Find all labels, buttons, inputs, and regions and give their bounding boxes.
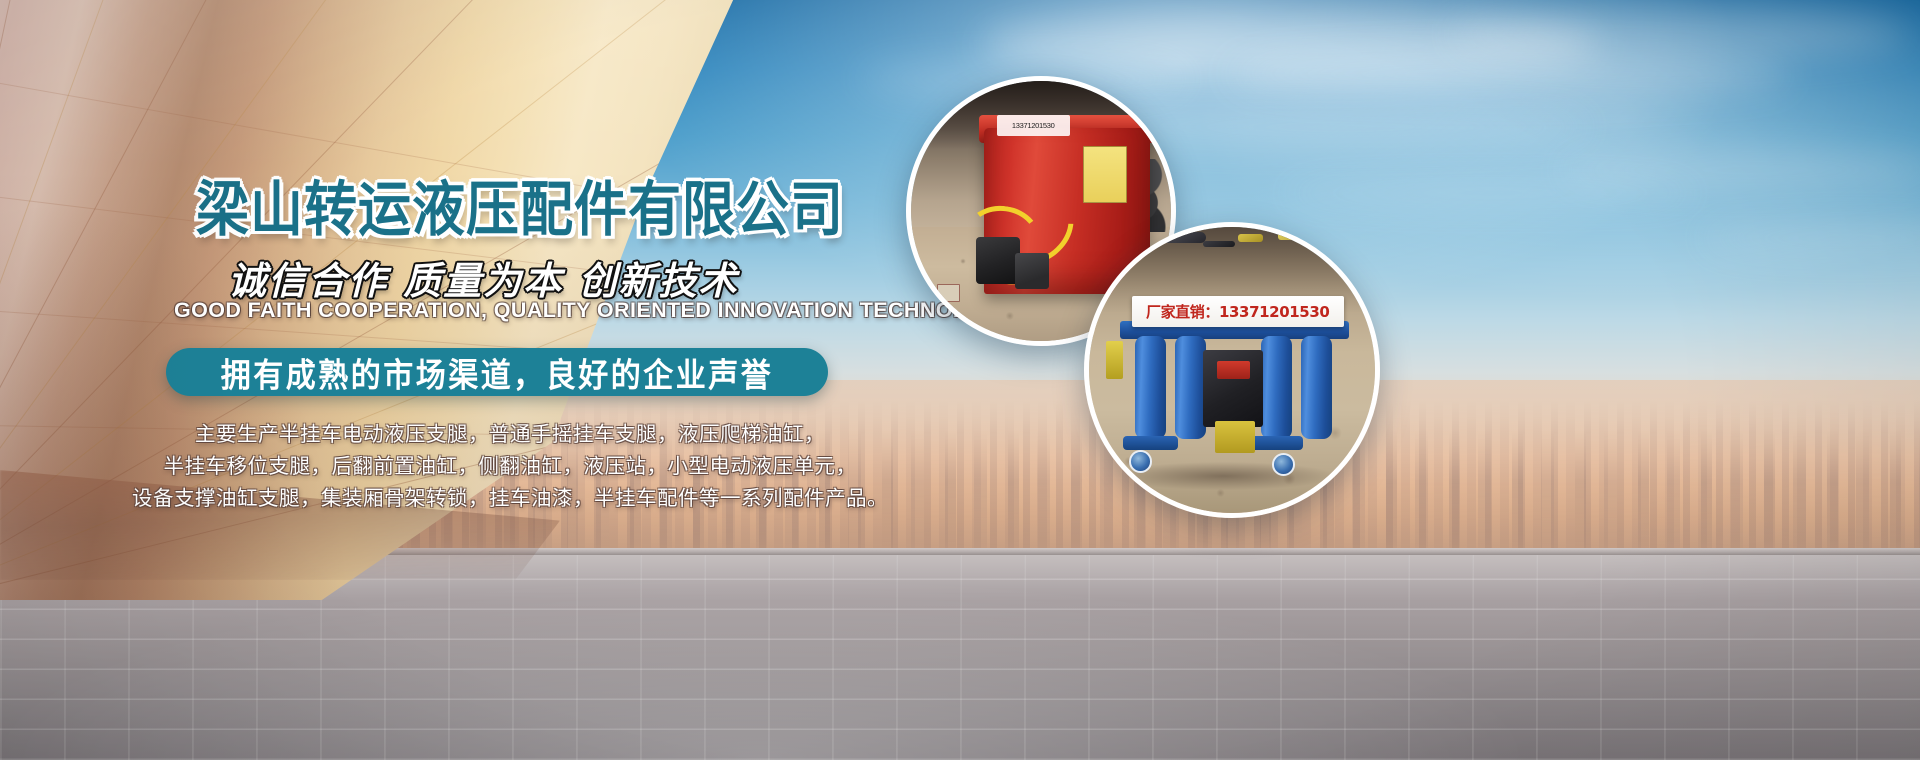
hydraulic-leg (1301, 336, 1332, 439)
banner-text-block: 梁山转运液压配件有限公司 诚信合作 质量为本 创新技术 GOOD FAITH C… (0, 0, 1020, 620)
clutter-part (1158, 232, 1207, 243)
clutter-part (1112, 235, 1149, 244)
phone-label-red: 13371201530 (997, 115, 1070, 136)
cloud-streak (1280, 180, 1700, 206)
clutter-part (1318, 236, 1358, 243)
clutter-part (1278, 231, 1312, 240)
hydraulic-leg (1175, 336, 1206, 439)
caster-wheel (1129, 450, 1152, 473)
hydraulic-leg (1261, 336, 1292, 439)
photo-content: 厂家直销：13371201530 (1089, 227, 1375, 513)
description-line: 主要生产半挂车电动液压支腿，普通手摇挂车支腿，液压爬梯油缸， (0, 418, 1020, 450)
control-box (1015, 253, 1049, 289)
slogan-chinese: 诚信合作 质量为本 创新技术 (228, 250, 738, 305)
factory-phone-text: 厂家直销：13371201530 (1146, 301, 1329, 322)
leg-foot-pad (1249, 436, 1303, 450)
electric-motor-unit (1203, 350, 1263, 427)
slogan-english: GOOD FAITH COOPERATION, QUALITY ORIENTED… (174, 298, 1015, 323)
page-title: 梁山转运液压配件有限公司 (196, 162, 844, 248)
warning-sticker (1083, 146, 1127, 203)
caster-wheel (1272, 453, 1295, 476)
yellow-side-panel (1106, 341, 1123, 378)
hydraulic-tank (1215, 421, 1255, 452)
hero-banner: 梁山转运液压配件有限公司 诚信合作 质量为本 创新技术 GOOD FAITH C… (0, 0, 1920, 760)
leg-foot-pad (1123, 436, 1177, 450)
pump-motor (976, 237, 1020, 284)
factory-phone-banner: 厂家直销：13371201530 (1132, 296, 1344, 327)
cloud-streak (1450, 8, 1910, 60)
product-description: 主要生产半挂车电动液压支腿，普通手摇挂车支腿，液压爬梯油缸， 半挂车移位支腿，后… (0, 418, 1020, 514)
hydraulic-leg (1135, 336, 1166, 439)
description-line: 设备支撑油缸支腿，集装厢骨架转锁，挂车油漆，半挂车配件等一系列配件产品。 (0, 482, 1020, 514)
product-photo-blue-hydraulic-unit: 厂家直销：13371201530 (1084, 222, 1380, 518)
highlight-pill: 拥有成熟的市场渠道，良好的企业声誉 (166, 348, 828, 396)
highlight-pill-label: 拥有成熟的市场渠道，良好的企业声誉 (221, 348, 774, 396)
clutter-part (1238, 234, 1264, 242)
description-line: 半挂车移位支腿，后翻前置油缸，侧翻油缸，液压站，小型电动液压单元， (0, 450, 1020, 482)
clutter-part (1203, 241, 1234, 247)
debris-box (937, 284, 960, 302)
